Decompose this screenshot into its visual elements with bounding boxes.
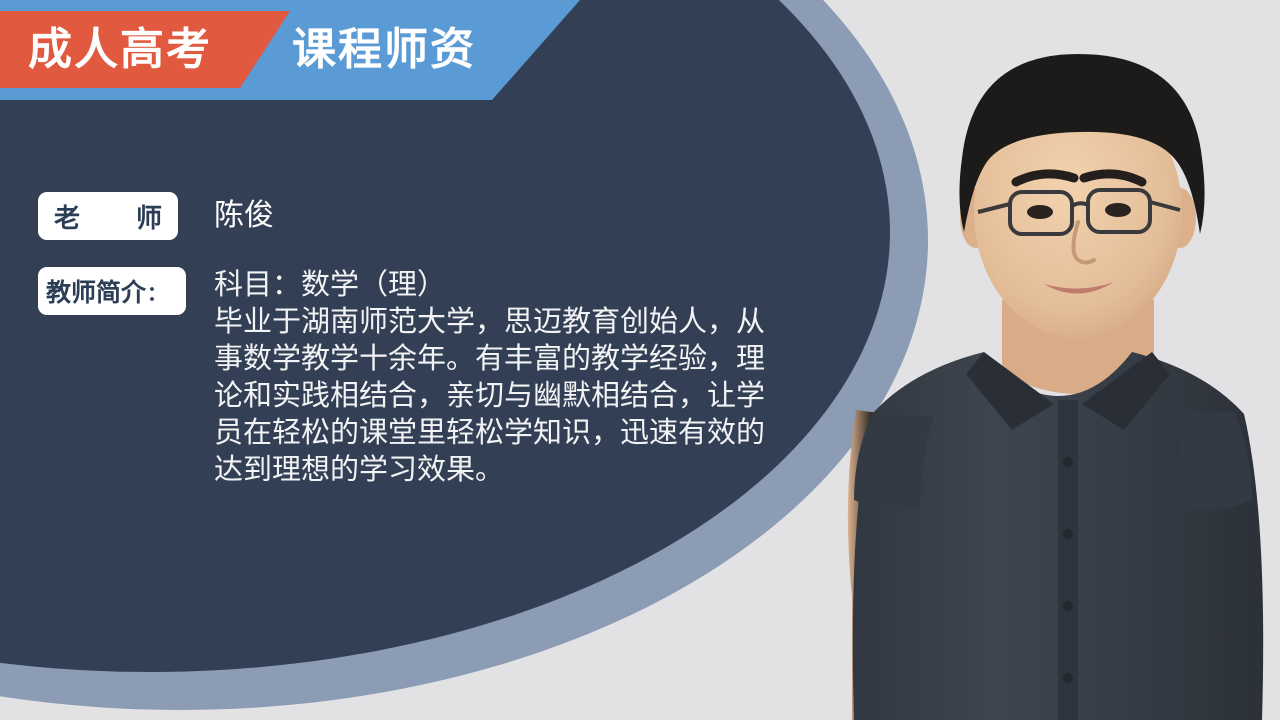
teacher-portrait [826, 0, 1280, 720]
shirt-placket [1058, 400, 1078, 720]
teacher-label-tag: 老 师 [38, 192, 178, 240]
teacher-bio-text: 科目：数学（理） 毕业于湖南师范大学，思迈教育创始人，从事数学教学十余年。有丰富… [214, 267, 774, 489]
bio-label-tag: 教师简介 ： [38, 267, 186, 315]
right-eye [1105, 203, 1131, 217]
teacher-label-char-2: 师 [136, 198, 162, 235]
teacher-name-value: 陈俊 [214, 192, 274, 240]
slide-canvas: 成人高考 课程师资 老 师 陈俊 教师简介 ： 科目：数学（理） 毕业于湖南师范… [0, 0, 1280, 720]
teacher-bio-row: 教师简介 ： 科目：数学（理） 毕业于湖南师范大学，思迈教育创始人，从事数学教学… [38, 267, 774, 489]
left-eye [1027, 205, 1053, 219]
teacher-info-block: 老 师 陈俊 教师简介 ： 科目：数学（理） 毕业于湖南师范大学，思迈教育创始人… [0, 0, 820, 720]
bio-label-text: 教师简介 [46, 273, 146, 309]
bio-label-colon: ： [147, 277, 167, 306]
teacher-name-row: 老 师 陈俊 [38, 192, 274, 240]
teacher-label-char-1: 老 [54, 198, 80, 235]
